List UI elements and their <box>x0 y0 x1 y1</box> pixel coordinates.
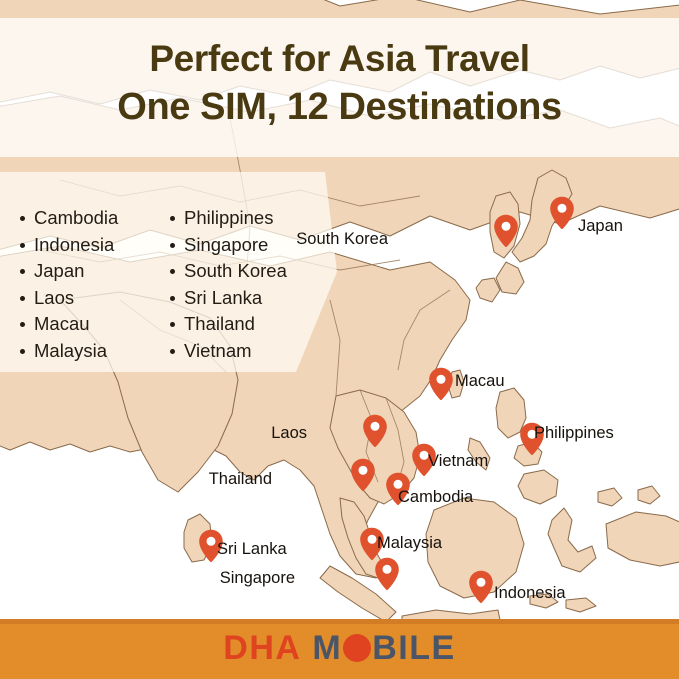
map-label-macau: Macau <box>455 372 505 390</box>
list-item: Cambodia <box>18 205 150 232</box>
footer-bar: DHA MBILE <box>0 619 679 679</box>
map-label-malaysia: Malaysia <box>377 534 442 552</box>
list-item: Macau <box>18 311 150 338</box>
map-pin-japan[interactable] <box>549 196 575 230</box>
map-label-thailand: Thailand <box>209 470 272 488</box>
brand-m-text: M <box>312 629 342 667</box>
map-label-singapore: Singapore <box>220 569 295 587</box>
list-item: Japan <box>18 258 150 285</box>
brand-bile-text: BILE <box>372 629 455 667</box>
destination-list: Cambodia Indonesia Japan Laos Macau Mala… <box>18 205 318 364</box>
brand-dha-text: DHA <box>223 629 301 667</box>
map-label-sri-lanka: Sri Lanka <box>217 540 287 558</box>
map-label-laos: Laos <box>271 424 307 442</box>
map-pin-south-korea[interactable] <box>493 214 519 248</box>
list-item: Indonesia <box>18 232 150 259</box>
map-label-philippines: Philippines <box>534 424 614 442</box>
map-label-indonesia: Indonesia <box>494 584 566 602</box>
map-pin-indonesia[interactable] <box>468 570 494 604</box>
list-item: Laos <box>18 285 150 312</box>
map-label-japan: Japan <box>578 217 623 235</box>
map-pin-singapore[interactable] <box>374 557 400 591</box>
list-item: Thailand <box>168 311 318 338</box>
map-pin-laos[interactable] <box>362 414 388 448</box>
list-item: Philippines <box>168 205 318 232</box>
title-line-1: Perfect for Asia Travel <box>0 34 679 83</box>
list-item: Malaysia <box>18 338 150 365</box>
map-pin-macau[interactable] <box>428 367 454 401</box>
map-label-vietnam: Vietnam <box>428 452 488 470</box>
destination-column-2: Philippines Singapore South Korea Sri La… <box>168 205 318 364</box>
brand-logo: DHA MBILE <box>0 629 679 668</box>
footer-top-stripe <box>0 619 679 624</box>
promo-graphic: Perfect for Asia Travel One SIM, 12 Dest… <box>0 0 679 679</box>
list-item: South Korea <box>168 258 318 285</box>
map-label-cambodia: Cambodia <box>398 488 473 506</box>
page-title: Perfect for Asia Travel One SIM, 12 Dest… <box>0 34 679 132</box>
title-line-2: One SIM, 12 Destinations <box>0 83 679 132</box>
map-label-south-korea: South Korea <box>296 230 388 248</box>
destination-column-1: Cambodia Indonesia Japan Laos Macau Mala… <box>18 205 150 364</box>
brand-o-circle-icon <box>343 634 371 662</box>
list-item: Sri Lanka <box>168 285 318 312</box>
list-item: Vietnam <box>168 338 318 365</box>
map-pin-thailand[interactable] <box>350 458 376 492</box>
